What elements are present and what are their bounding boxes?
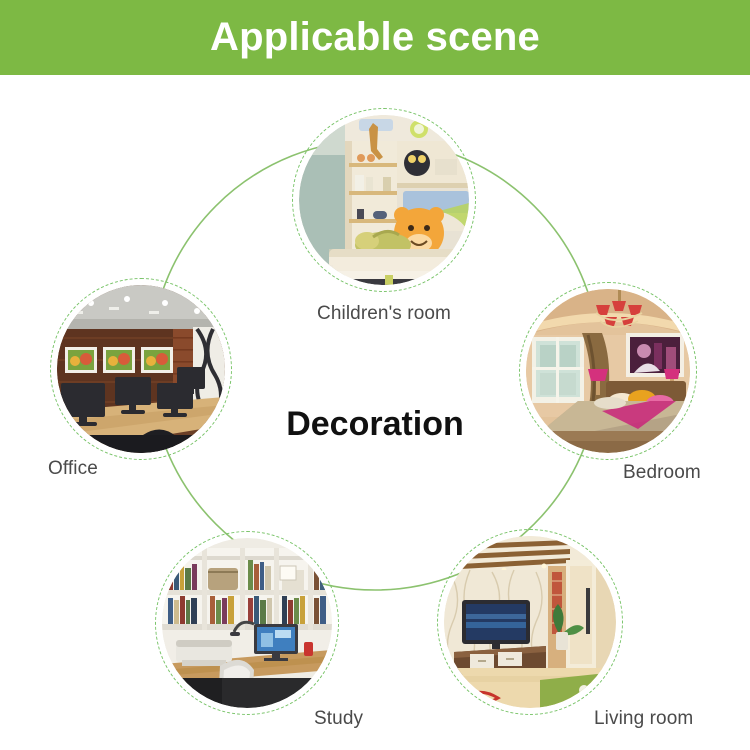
- photo-study: [162, 538, 332, 708]
- diagram-canvas: Decoration: [0, 75, 750, 750]
- page-title: Applicable scene: [0, 0, 750, 75]
- node-label-bedroom: Bedroom: [623, 462, 701, 484]
- center-label: Decoration: [215, 405, 535, 444]
- photo-childrens-room: [299, 115, 469, 285]
- node-label-living-room: Living room: [594, 708, 693, 730]
- node-study[interactable]: Study: [155, 531, 339, 715]
- photo-living-room: [444, 536, 616, 708]
- applicable-scene-infographic: Applicable scene Decoration: [0, 0, 750, 750]
- photo-office: [57, 285, 225, 453]
- node-label-study: Study: [314, 708, 363, 730]
- node-office[interactable]: Office: [50, 278, 232, 460]
- photo-bedroom: [526, 289, 690, 453]
- node-label-children-room: Children's room: [302, 303, 466, 325]
- node-bedroom[interactable]: Bedroom: [519, 282, 697, 460]
- node-label-office: Office: [48, 458, 98, 480]
- node-children-room[interactable]: Children's room: [292, 108, 476, 292]
- node-living-room[interactable]: Living room: [437, 529, 623, 715]
